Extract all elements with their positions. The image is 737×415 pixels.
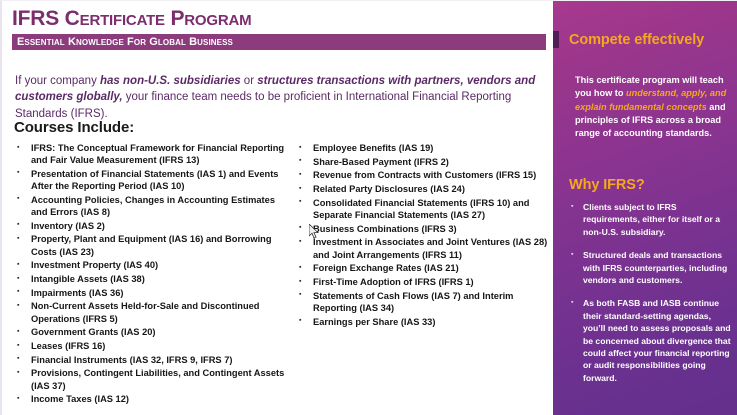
list-item: Impairments (IAS 36) bbox=[14, 287, 286, 299]
list-item: Property, Plant and Equipment (IAS 16) a… bbox=[14, 233, 286, 257]
panel-heading-compete: Compete effectively bbox=[569, 32, 731, 48]
panel-heading-why-ifrs: Why IFRS? bbox=[569, 177, 731, 193]
list-item: Revenue from Contracts with Customers (I… bbox=[296, 169, 550, 181]
intro-emphasis-1: has non-U.S. subsidiaries bbox=[100, 75, 241, 87]
list-item: Share-Based Payment (IFRS 2) bbox=[296, 156, 550, 168]
page-title: IFRS Certificate Program bbox=[12, 7, 546, 31]
list-item: Financial Instruments (IAS 32, IFRS 9, I… bbox=[14, 354, 286, 366]
list-item: Structured deals and transactions with I… bbox=[569, 249, 733, 286]
list-item: Accounting Policies, Changes in Accounti… bbox=[14, 194, 286, 218]
list-item: Employee Benefits (IAS 19) bbox=[296, 142, 550, 154]
courses-left-column: IFRS: The Conceptual Framework for Finan… bbox=[14, 142, 286, 407]
left-content-pane: IFRS Certificate Program Essential knowl… bbox=[2, 1, 553, 415]
list-item: Inventory (IAS 2) bbox=[14, 220, 286, 232]
courses-columns: IFRS: The Conceptual Framework for Finan… bbox=[14, 142, 550, 407]
list-item: Presentation of Financial Statements (IA… bbox=[14, 168, 286, 192]
panel-paragraph: This certificate program will teach you … bbox=[575, 74, 727, 140]
list-item: Intangible Assets (IAS 38) bbox=[14, 273, 286, 285]
list-item: Foreign Exchange Rates (IAS 21) bbox=[296, 262, 550, 274]
list-item: Provisions, Contingent Liabilities, and … bbox=[14, 367, 286, 391]
course-list-left: IFRS: The Conceptual Framework for Finan… bbox=[14, 142, 286, 406]
list-item: Statements of Cash Flows (IAS 7) and Int… bbox=[296, 290, 550, 314]
highlight-panel: Compete effectively This certificate pro… bbox=[553, 1, 737, 415]
courses-heading: Courses Include: bbox=[14, 119, 134, 136]
intro-conjunction: or bbox=[241, 75, 258, 87]
list-item: Investment Property (IAS 40) bbox=[14, 259, 286, 271]
courses-right-column: Employee Benefits (IAS 19)Share-Based Pa… bbox=[296, 142, 550, 407]
list-item: IFRS: The Conceptual Framework for Finan… bbox=[14, 142, 286, 166]
intro-paragraph: If your company has non-U.S. subsidiarie… bbox=[15, 73, 539, 123]
course-list-right: Employee Benefits (IAS 19)Share-Based Pa… bbox=[296, 142, 550, 328]
subtitle-bar: Essential knowledge for global business bbox=[12, 34, 546, 50]
list-item: First-Time Adoption of IFRS (IFRS 1) bbox=[296, 276, 550, 288]
list-item: Leases (IFRS 16) bbox=[14, 340, 286, 352]
panel-bullet-list: Clients subject to IFRS requirements, ei… bbox=[569, 201, 733, 395]
intro-lead: If your company bbox=[15, 75, 100, 87]
list-item: Earnings per Share (IAS 33) bbox=[296, 316, 550, 328]
subtitle-text: Essential knowledge for global business bbox=[12, 37, 233, 48]
slide-canvas: IFRS Certificate Program Essential knowl… bbox=[0, 0, 737, 415]
list-item: Non-Current Assets Held-for-Sale and Dis… bbox=[14, 300, 286, 324]
list-item: Consolidated Financial Statements (IFRS … bbox=[296, 197, 550, 221]
list-item: Income Taxes (IAS 12) bbox=[14, 393, 286, 405]
list-item: Clients subject to IFRS requirements, ei… bbox=[569, 201, 733, 238]
list-item: Investment in Associates and Joint Ventu… bbox=[296, 236, 550, 260]
list-item: Business Combinations (IFRS 3) bbox=[296, 223, 550, 235]
panel-tab-marker bbox=[553, 31, 559, 48]
list-item: Government Grants (IAS 20) bbox=[14, 326, 286, 338]
title-block: IFRS Certificate Program Essential knowl… bbox=[12, 7, 546, 50]
list-item: As both FASB and IASB continue their sta… bbox=[569, 297, 733, 384]
list-item: Related Party Disclosures (IAS 24) bbox=[296, 183, 550, 195]
